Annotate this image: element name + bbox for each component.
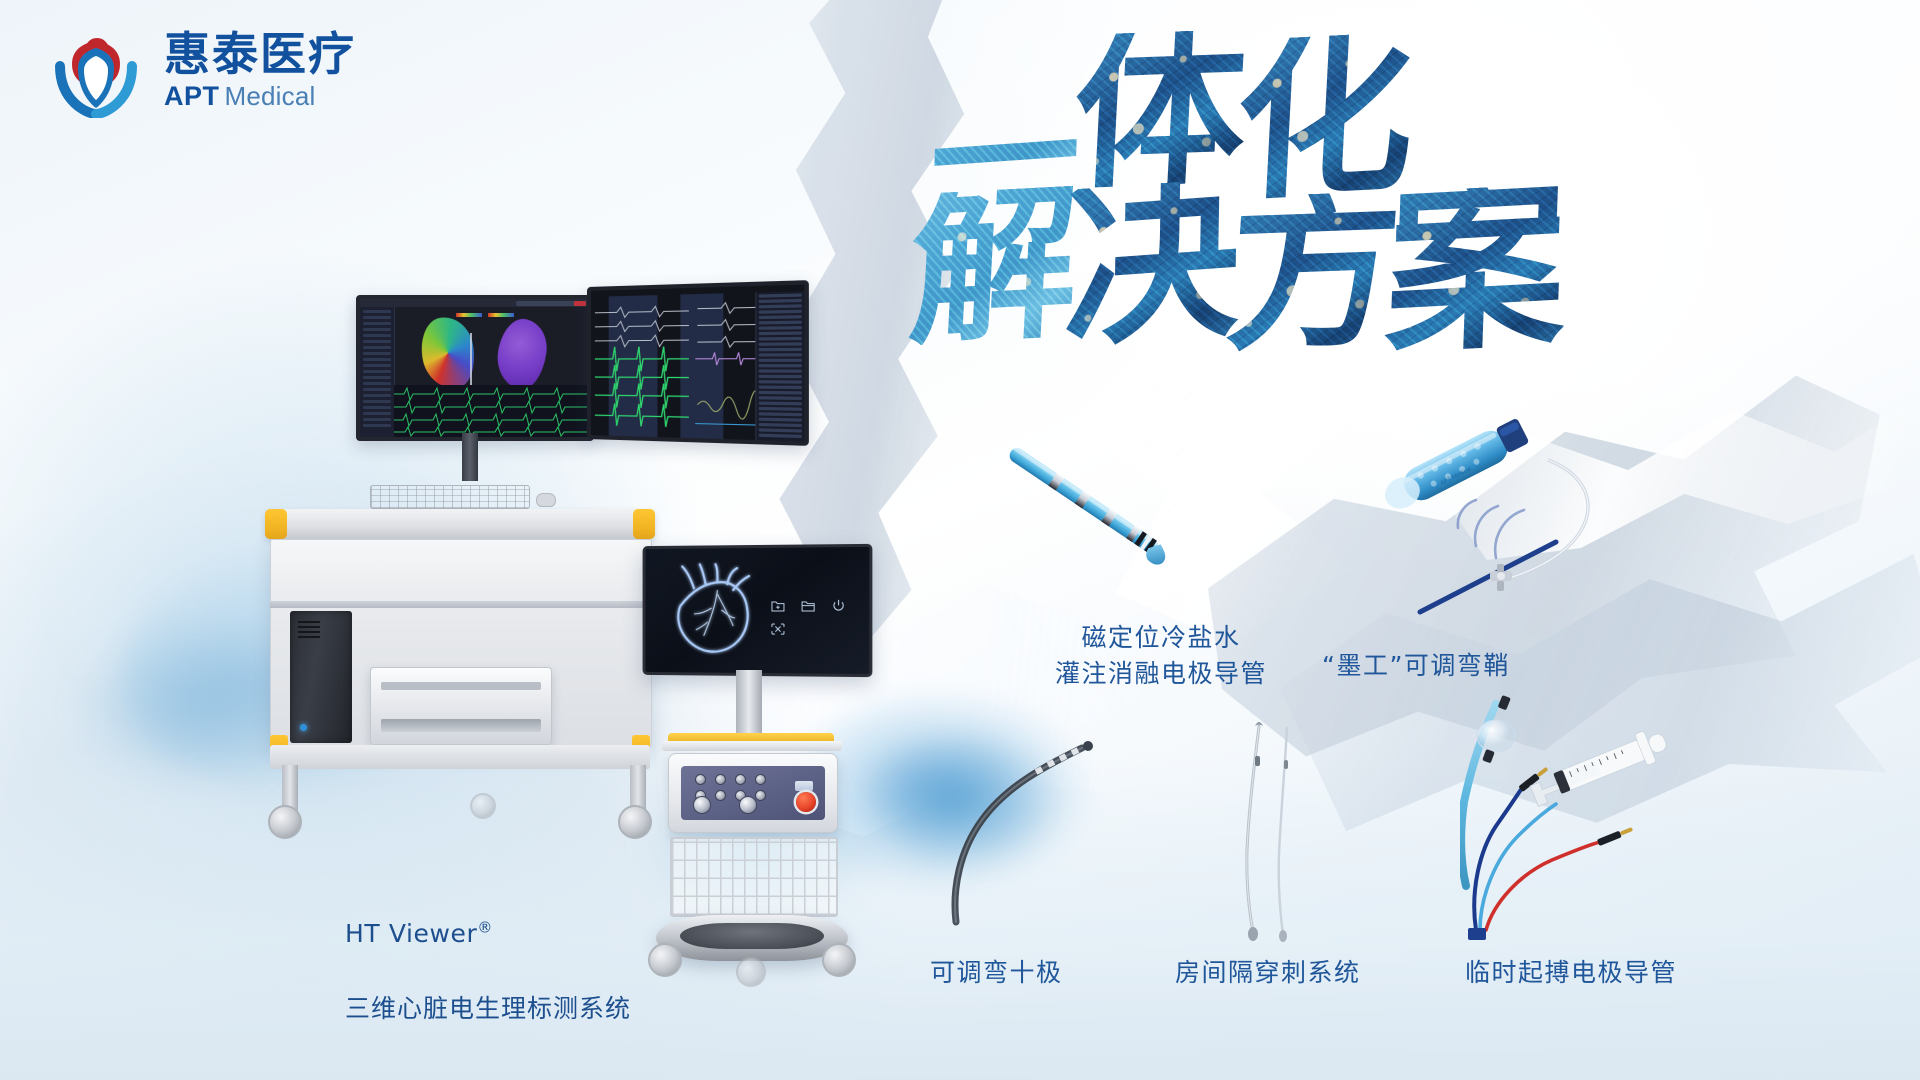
- generator-control-panel[interactable]: [681, 766, 825, 820]
- decapolar-catheter-image: [930, 740, 1110, 940]
- headline-char-fang: 方: [1223, 191, 1406, 352]
- pacing-balloon: [1477, 720, 1515, 752]
- pacing-svg: [1460, 690, 1730, 940]
- sheath-curve-indicator-icon: [1458, 500, 1524, 558]
- heart-display-icon-row: [768, 596, 855, 639]
- cart2-caster-right: [822, 943, 856, 977]
- heart-display-cart: [640, 545, 940, 1045]
- tower-power-led-icon: [300, 724, 307, 731]
- label-steerable-sheath: “墨工”可调弯鞘: [1322, 648, 1510, 684]
- headline-calligraphy: 一 体 化 解 决 方 案: [930, 40, 1690, 340]
- label-decapolar-catheter: 可调弯十极: [930, 955, 1063, 991]
- generator-emergency-button[interactable]: [796, 792, 816, 812]
- transseptal-svg: [1215, 720, 1335, 950]
- ecg-traces: [394, 385, 594, 437]
- transseptal-puncture-system-image: [1215, 720, 1335, 950]
- cart-storage-basket: [670, 837, 838, 917]
- generator-ground-port[interactable]: [693, 796, 711, 814]
- ablation-catheter-svg: [1000, 440, 1220, 610]
- headline-line-2: 解 决 方 案: [910, 190, 1566, 350]
- computer-tower: [290, 611, 352, 743]
- mapping-monitor-left: [356, 295, 594, 441]
- apt-logo-mark-icon: [44, 22, 148, 118]
- printer-output-slot: [381, 719, 541, 732]
- generator-status-badge: [795, 781, 813, 791]
- irrigated-ablation-catheter-image: [1000, 440, 1220, 600]
- poster-canvas: 惠泰医疗 APT Medical 一 体 化 解 决 方 案: [0, 0, 1920, 1080]
- steerable-sheath-image: APT Medical: [1380, 400, 1680, 630]
- cart2-caster-left: [648, 943, 682, 977]
- generator-port-7[interactable]: [755, 774, 766, 785]
- headline-char-jue: 决: [1063, 178, 1241, 349]
- brand-logo-text: 惠泰医疗 APT Medical: [164, 31, 356, 110]
- pacing-hub: [1468, 928, 1486, 940]
- generator-main-port[interactable]: [739, 796, 757, 814]
- heart-display-screen: [643, 544, 873, 677]
- cart-caster-left: [268, 805, 302, 839]
- registration-icon[interactable]: [768, 619, 787, 638]
- pacing-syringe: [1527, 725, 1671, 810]
- registered-trademark-icon: ®: [477, 919, 493, 937]
- display-stand-neck: [736, 670, 762, 735]
- headline-char-an: 案: [1383, 183, 1568, 355]
- cart-accent-yellow-right: [633, 509, 655, 539]
- recording-monitor-right: [587, 280, 809, 446]
- printer-paper-tray: [381, 682, 541, 690]
- tower-vent-icon: [298, 621, 320, 623]
- printer: [370, 667, 552, 745]
- cart-shelf: [270, 601, 650, 608]
- keyboard[interactable]: [370, 485, 530, 509]
- label-pacing-catheter: 临时起搏电极导管: [1465, 955, 1677, 991]
- generator-port-8[interactable]: [755, 790, 766, 801]
- brand-name-en: APT Medical: [164, 83, 356, 110]
- pacing-connector-pin-red: [1597, 826, 1634, 846]
- generator-port-4[interactable]: [715, 790, 726, 801]
- cart-base-panel: [270, 745, 650, 769]
- brand-medical-text: Medical: [225, 83, 316, 109]
- brand-apt-text: APT: [164, 83, 220, 110]
- power-icon[interactable]: [828, 596, 847, 615]
- recording-data-table: [755, 291, 804, 441]
- brand-logo: 惠泰医疗 APT Medical: [44, 22, 356, 118]
- cart-accent-yellow-left: [265, 509, 287, 539]
- sheath-dilator: [1420, 542, 1556, 612]
- label-mapping-system: HT Viewer® 三维心脏电生理标测系统: [345, 840, 631, 1065]
- cart-worktop: [265, 509, 655, 539]
- cart2-caster-center: [736, 957, 766, 987]
- label-mapping-name-cn: 三维心脏电生理标测系统: [345, 990, 631, 1028]
- generator-port-3[interactable]: [715, 774, 726, 785]
- mapping-brand-name: HT Viewer: [345, 919, 477, 948]
- recording-screen-content: [591, 291, 804, 441]
- generator-cart-tray: [662, 741, 842, 751]
- open-folder-icon[interactable]: [798, 596, 817, 615]
- generator-port-1[interactable]: [695, 774, 706, 785]
- temporary-pacing-catheter-image: [1460, 690, 1720, 930]
- sheath-svg: APT Medical: [1380, 400, 1680, 640]
- decapolar-svg: [930, 740, 1110, 940]
- brand-name-cn: 惠泰医疗: [164, 31, 356, 77]
- monitor-stand-neck: [462, 433, 478, 481]
- screen-ecg-band: [394, 385, 590, 437]
- label-irrigated-catheter: 磁定位冷盐水 灌注消融电极导管: [1055, 620, 1267, 691]
- label-transseptal-system: 房间隔穿刺系统: [1175, 955, 1361, 991]
- cart-base-hub: [680, 923, 824, 949]
- generator-port-5[interactable]: [735, 774, 746, 785]
- cart-caster-center: [470, 793, 496, 819]
- headline-char-jie: 解: [906, 185, 1082, 346]
- mapping-screen-content: [360, 299, 590, 437]
- heart-xray-illustration-icon: [661, 560, 774, 660]
- new-case-icon[interactable]: [768, 596, 787, 615]
- rf-generator-unit: [668, 753, 838, 833]
- mouse[interactable]: [536, 493, 556, 507]
- label-mapping-brand: HT Viewer®: [345, 878, 631, 953]
